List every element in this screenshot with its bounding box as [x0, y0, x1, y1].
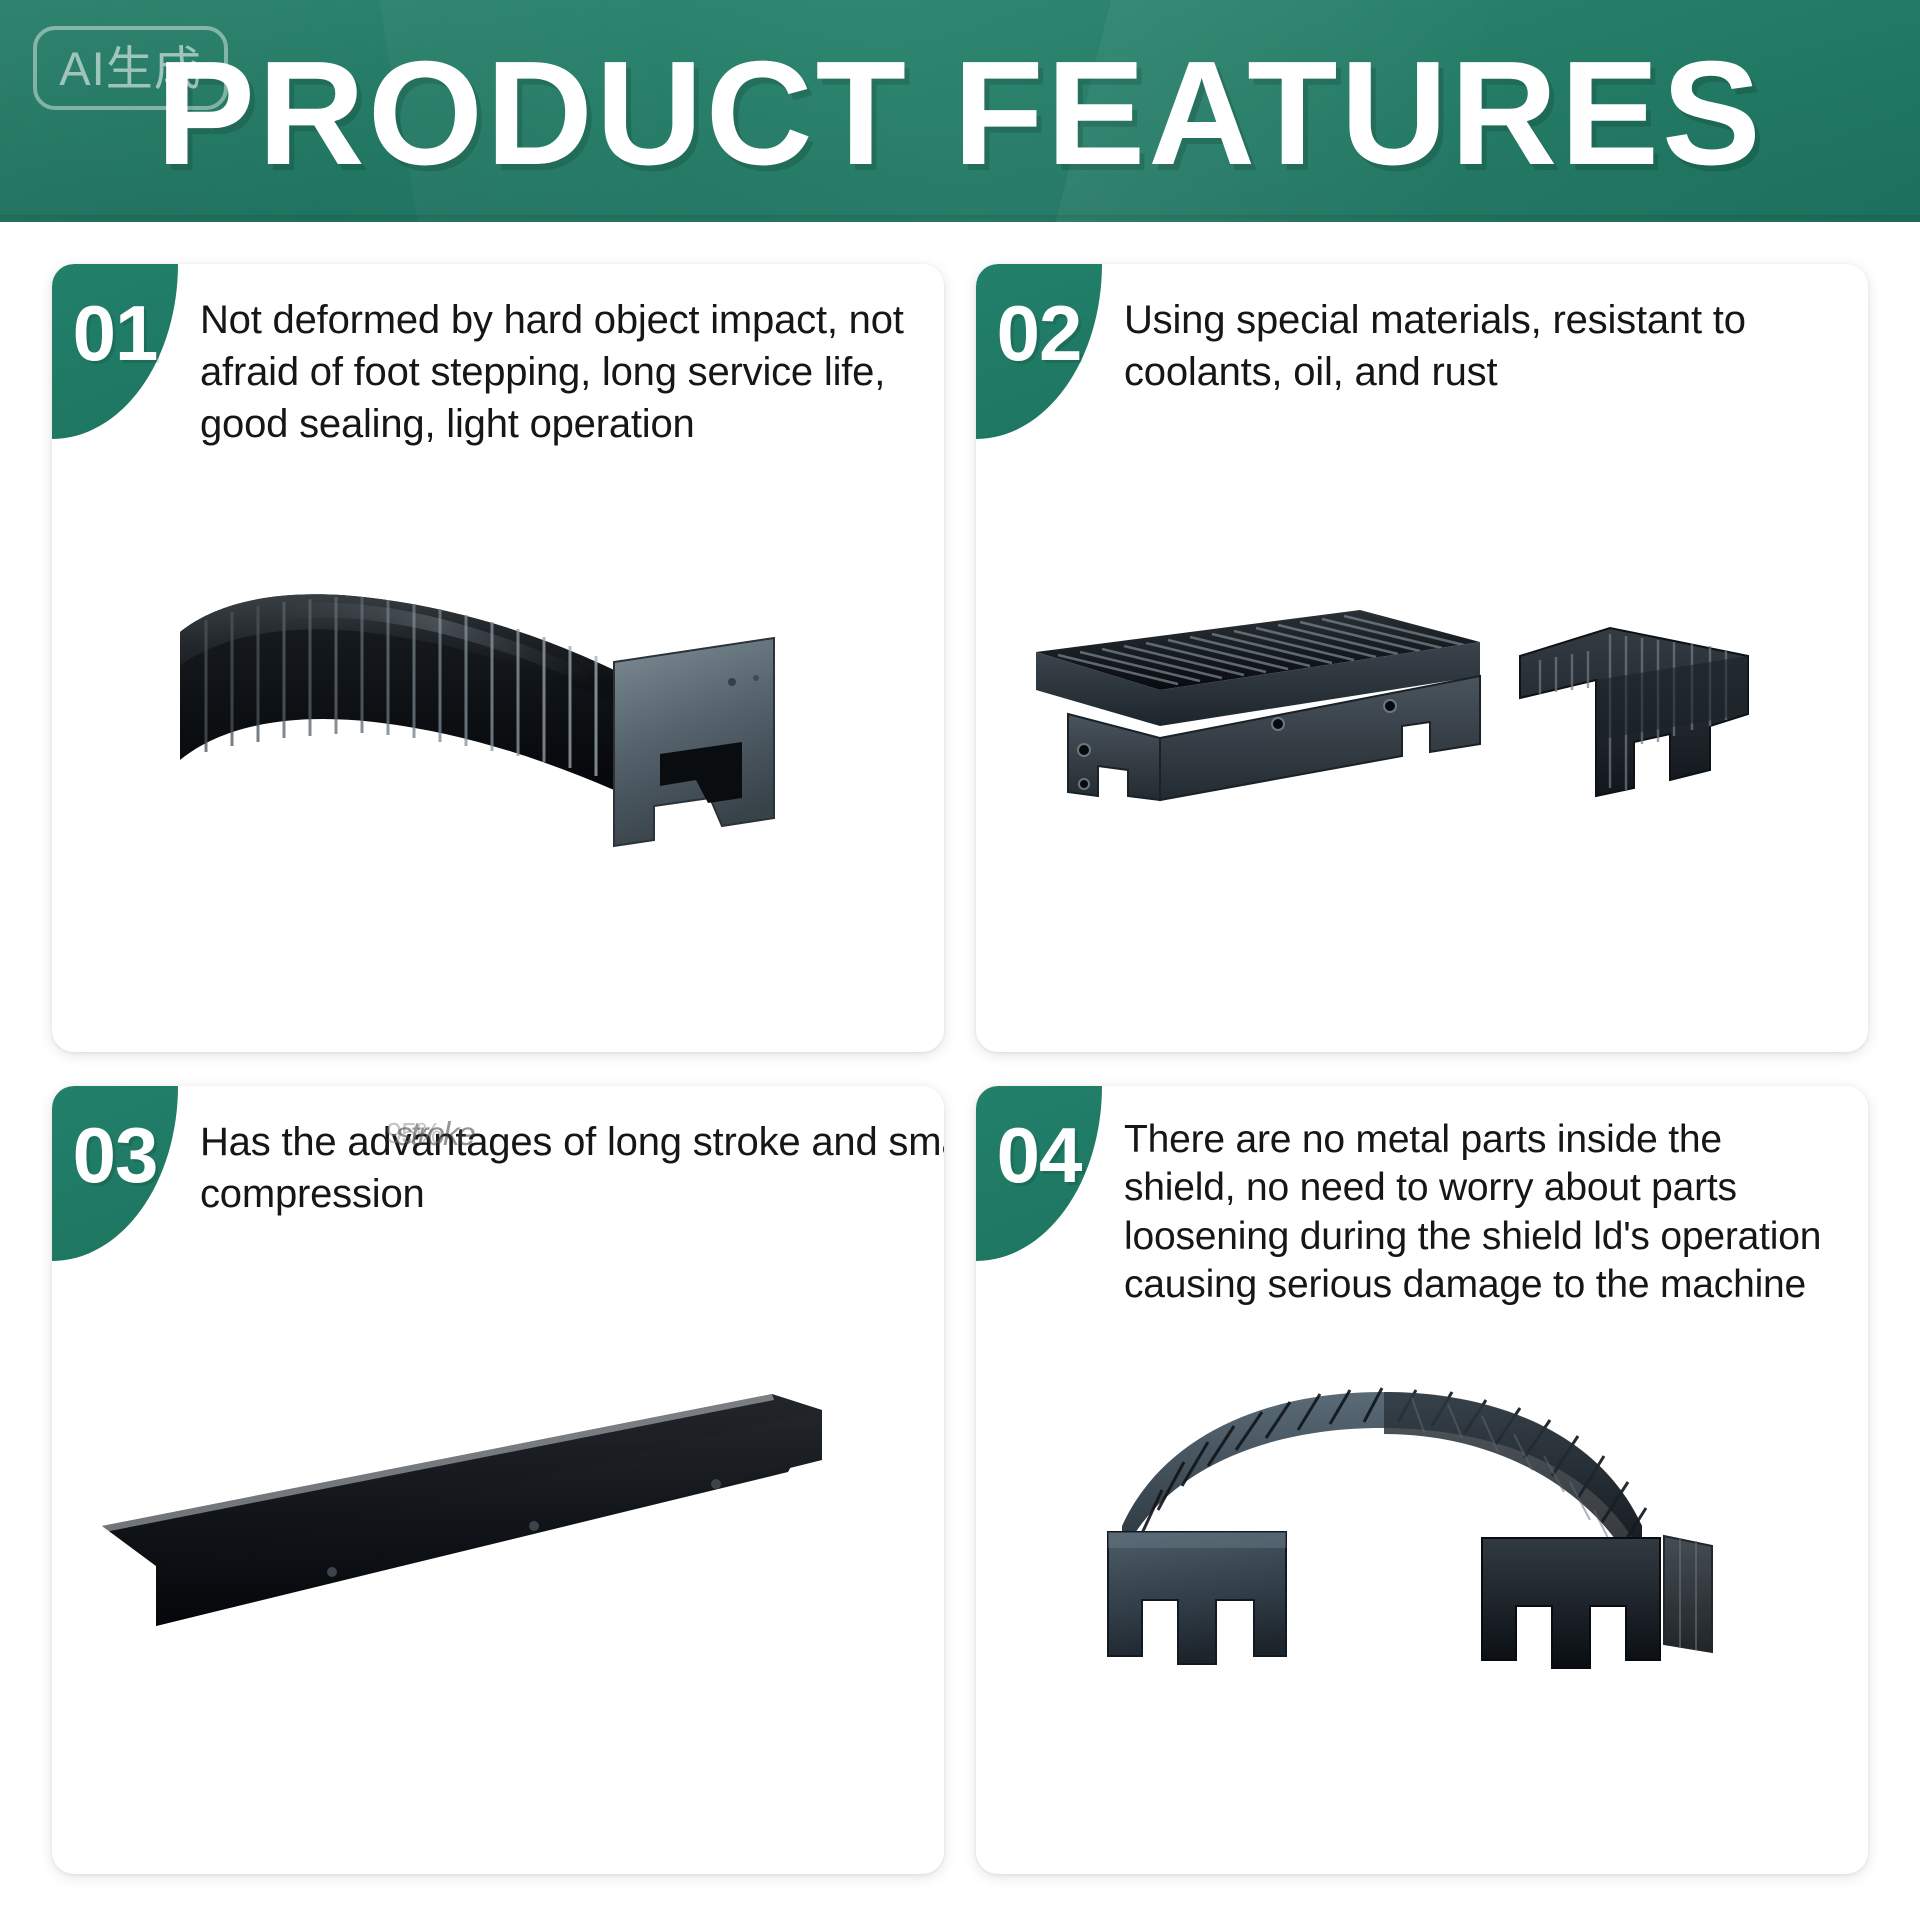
- flat-bellows-with-bracket-photo: [1010, 564, 1770, 864]
- fan-shaped-bellows-photo: [1012, 1386, 1752, 1706]
- features-grid: 01 Not deformed by hard object impact, n…: [0, 222, 1920, 1920]
- feature-text-01: Not deformed by hard object impact, not …: [200, 294, 910, 450]
- page-title: PRODUCT FEATURES: [0, 40, 1920, 188]
- feature-card-02[interactable]: 02 Using special materials, resistant to…: [976, 264, 1868, 1052]
- feature-card-04[interactable]: 04 There are no metal parts inside the s…: [976, 1086, 1868, 1874]
- badge-number-label: 02: [997, 294, 1082, 372]
- badge-number-label: 01: [73, 294, 158, 372]
- feature-number-badge-01: 01: [52, 264, 178, 439]
- badge-number-label: 03: [73, 1116, 158, 1194]
- feature-card-03[interactable]: 03 Has the advantages of long stroke and…: [52, 1086, 944, 1874]
- feature-number-badge-02: 02: [976, 264, 1102, 439]
- feature-card-01[interactable]: 01 Not deformed by hard object impact, n…: [52, 264, 944, 1052]
- badge-number-label: 04: [997, 1116, 1082, 1194]
- flat-strip-bellows-photo: [82, 1376, 822, 1676]
- feature-text-03: Has the advantages of long stroke and sm…: [200, 1116, 944, 1220]
- curved-bellows-way-cover-photo: [162, 554, 822, 884]
- page-header: PRODUCT FEATURES: [0, 0, 1920, 222]
- feature-number-badge-03: 03: [52, 1086, 178, 1261]
- feature-text-04: There are no metal parts inside the shie…: [1124, 1116, 1834, 1309]
- feature-text-02: Using special materials, resistant to co…: [1124, 294, 1834, 398]
- feature-number-badge-04: 04: [976, 1086, 1102, 1261]
